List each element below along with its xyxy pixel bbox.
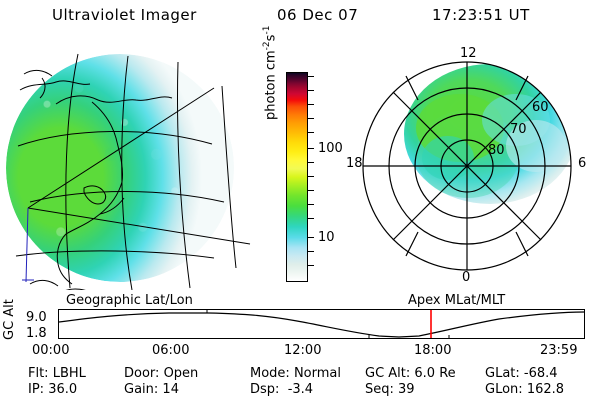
colorbar-tick-100 bbox=[308, 148, 314, 149]
strip-caption-geographic: Geographic Lat/Lon bbox=[66, 293, 193, 308]
status-ip-label: IP: bbox=[28, 382, 44, 397]
status-glat: GLat: -68.4 bbox=[485, 366, 558, 381]
mlt-label-12: 12 bbox=[460, 46, 477, 61]
strip-xtick-3: 18:00 bbox=[414, 343, 451, 358]
status-ip: IP: 36.0 bbox=[28, 382, 77, 397]
strip-xtick-1: 06:00 bbox=[152, 343, 189, 358]
status-seq-value: 39 bbox=[398, 382, 415, 397]
colorbar-tick bbox=[308, 132, 314, 133]
geographic-earth-view[interactable] bbox=[0, 42, 268, 290]
colorbar-tick bbox=[308, 90, 314, 91]
status-mode-value: Normal bbox=[294, 366, 341, 381]
colorbar-tick bbox=[308, 204, 314, 205]
status-glat-label: GLat: bbox=[485, 366, 520, 381]
status-mode: Mode: Normal bbox=[250, 366, 341, 381]
status-dsp-label: Dsp: bbox=[250, 382, 279, 397]
status-glon: GLon: 162.8 bbox=[485, 382, 564, 397]
status-ip-value: 36.0 bbox=[48, 382, 77, 397]
colorbar-tick bbox=[308, 251, 314, 252]
status-flt: Flt: LBHL bbox=[28, 366, 86, 381]
status-seq: Seq: 39 bbox=[365, 382, 415, 397]
colorbar[interactable]: 100 10 bbox=[286, 72, 308, 282]
status-dsp: Dsp: -3.4 bbox=[250, 382, 313, 397]
status-gain-label: Gain: bbox=[124, 382, 158, 397]
strip-xtick-0: 00:00 bbox=[32, 343, 69, 358]
status-seq-label: Seq: bbox=[365, 382, 394, 397]
colorbar-tick bbox=[308, 218, 314, 219]
colorbar-tick bbox=[308, 104, 314, 105]
strip-xtick-2: 12:00 bbox=[284, 343, 321, 358]
colorbar-tick-10 bbox=[308, 237, 314, 238]
status-glon-label: GLon: bbox=[485, 382, 523, 397]
status-gcalt: GC Alt: 6.0 Re bbox=[365, 366, 456, 381]
page-title: Ultraviolet Imager bbox=[52, 6, 197, 24]
colorbar-gradient bbox=[286, 72, 308, 282]
status-flt-label: Flt: bbox=[28, 366, 49, 381]
strip-chart-trace bbox=[59, 310, 584, 338]
mlat-label-80: 80 bbox=[488, 143, 505, 158]
strip-caption-apex: Apex MLat/MLT bbox=[408, 293, 505, 308]
colorbar-tick bbox=[308, 176, 314, 177]
colorbar-axis-label-exp2: -1 bbox=[262, 26, 272, 35]
strip-chart-y-label: GC Alt bbox=[2, 299, 17, 340]
status-dsp-value: -3.4 bbox=[284, 382, 314, 397]
status-mode-label: Mode: bbox=[250, 366, 290, 381]
strip-xtick-4: 23:59 bbox=[540, 343, 577, 358]
colorbar-tick bbox=[308, 118, 314, 119]
status-gcalt-value: 6.0 Re bbox=[414, 366, 455, 381]
colorbar-tick bbox=[308, 190, 314, 191]
polar-dial-graphic bbox=[340, 42, 600, 290]
observation-time: 17:23:51 UT bbox=[432, 6, 530, 24]
status-door-value: Open bbox=[164, 366, 199, 381]
auroral-oval-emission bbox=[404, 64, 576, 204]
geographic-graticule bbox=[0, 42, 268, 290]
status-door: Door: Open bbox=[124, 366, 198, 381]
mlat-label-60: 60 bbox=[532, 100, 549, 115]
status-gcalt-label: GC Alt: bbox=[365, 366, 410, 381]
apex-magnetic-dial[interactable]: 12 18 6 0 60 70 80 bbox=[340, 42, 600, 290]
status-gain-value: 14 bbox=[162, 382, 179, 397]
colorbar-axis-label: photon cm-2s-1 bbox=[262, 26, 278, 120]
status-door-label: Door: bbox=[124, 366, 159, 381]
strip-ytick-bottom: 1.8 bbox=[26, 326, 47, 341]
mlat-label-70: 70 bbox=[510, 122, 527, 137]
uvi-display: Ultraviolet Imager 06 Dec 07 17:23:51 UT bbox=[0, 0, 600, 400]
mlt-label-6: 6 bbox=[578, 156, 586, 171]
status-glon-value: 162.8 bbox=[527, 382, 564, 397]
colorbar-axis-label-main: photon cm bbox=[263, 50, 278, 120]
colorbar-tick bbox=[308, 265, 314, 266]
strip-chart-plot-area[interactable] bbox=[58, 309, 585, 339]
colorbar-axis-label-exp1: -2 bbox=[262, 41, 272, 50]
observation-date: 06 Dec 07 bbox=[277, 6, 358, 24]
status-glat-value: -68.4 bbox=[524, 366, 558, 381]
colorbar-label-10: 10 bbox=[318, 230, 335, 245]
colorbar-tick bbox=[308, 162, 314, 163]
strip-ytick-top: 9.0 bbox=[26, 310, 47, 325]
mlt-label-0: 0 bbox=[462, 270, 470, 285]
status-flt-value: LBHL bbox=[53, 366, 86, 381]
colorbar-tick bbox=[308, 76, 314, 77]
mlt-label-18: 18 bbox=[346, 156, 363, 171]
colorbar-axis-label-s: s bbox=[263, 35, 278, 42]
status-gain: Gain: 14 bbox=[124, 382, 179, 397]
